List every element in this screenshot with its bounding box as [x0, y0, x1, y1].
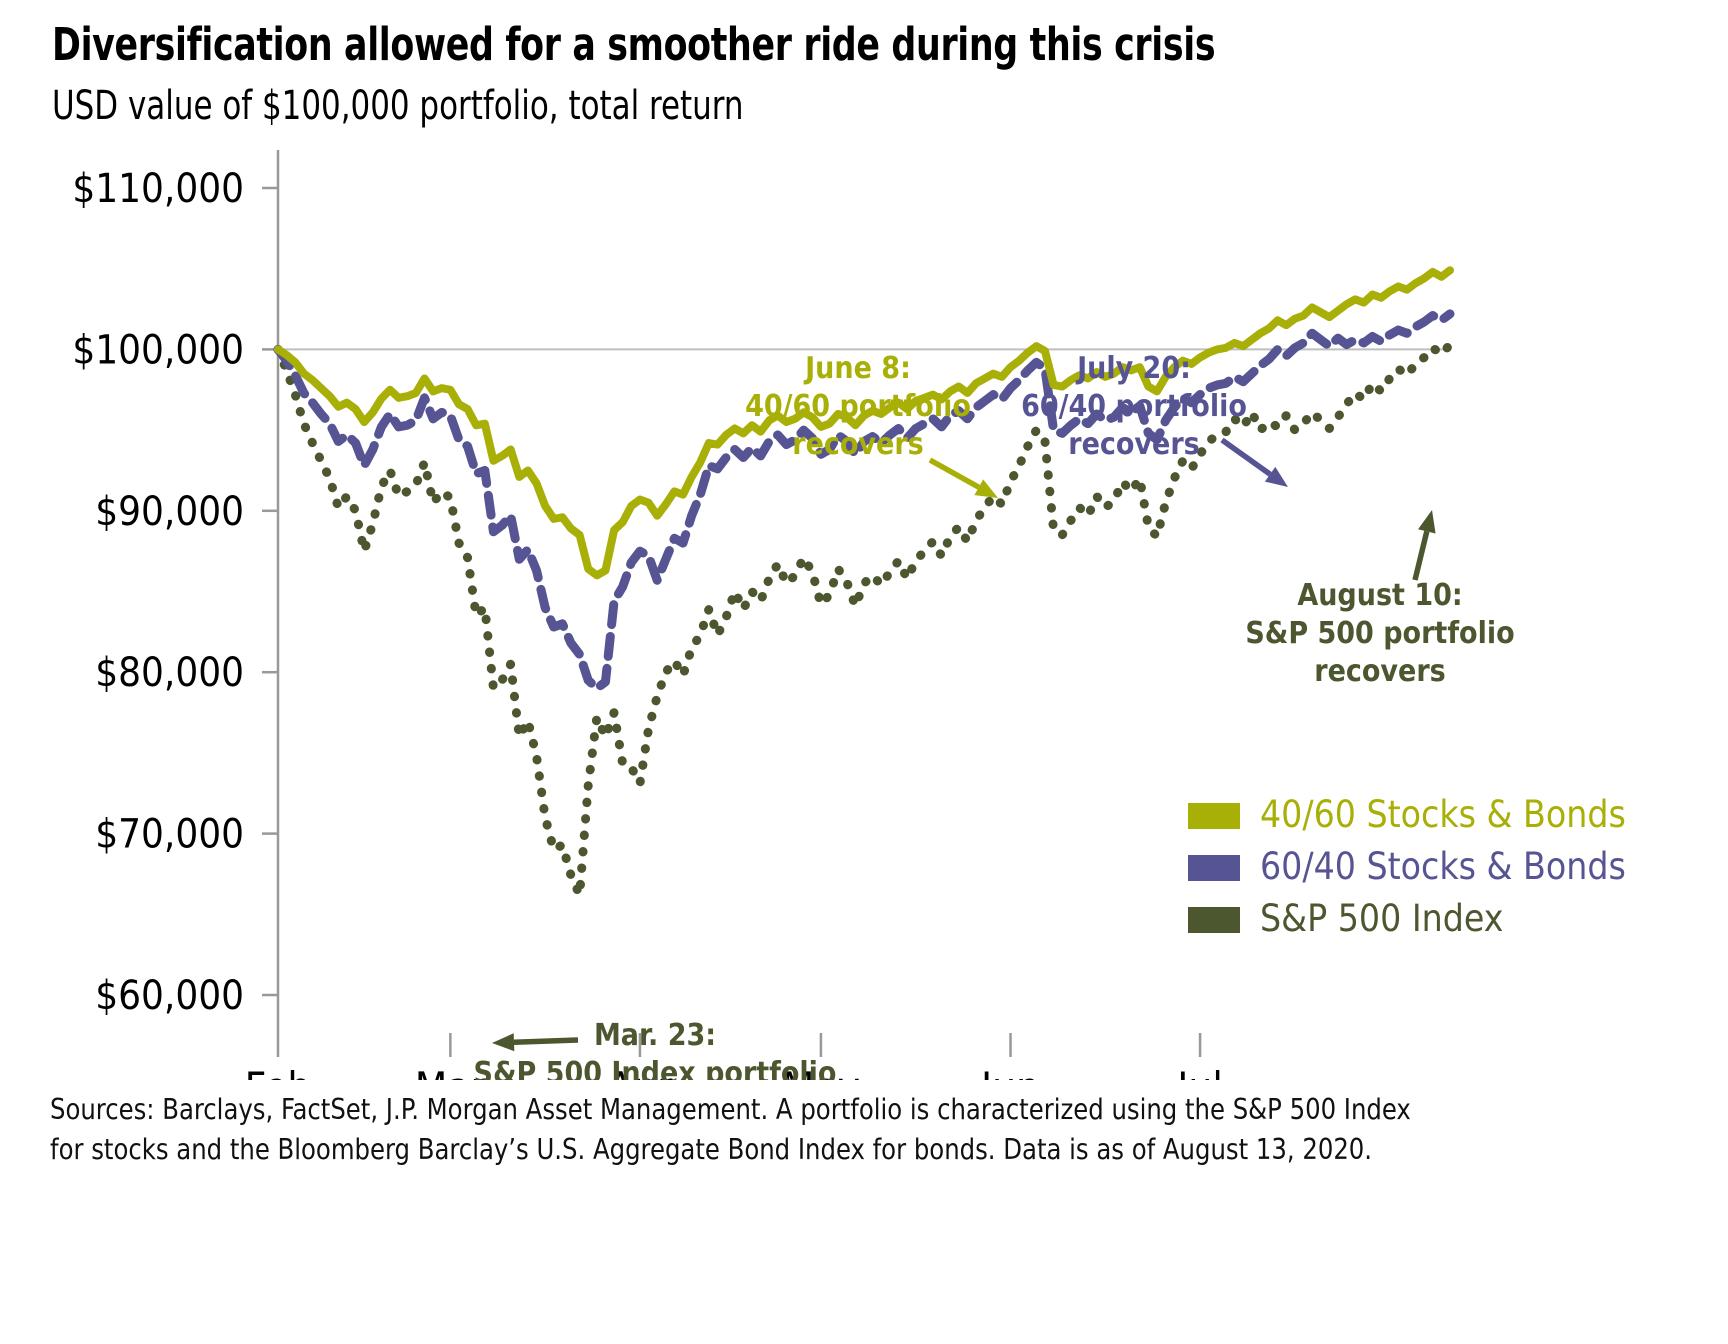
- y-axis-tick-label: $60,000: [95, 973, 244, 1019]
- chart-area: $110,000$100,000$90,000$80,000$70,000$60…: [0, 150, 1728, 1080]
- line-chart: $110,000$100,000$90,000$80,000$70,000$60…: [0, 150, 1728, 1080]
- annotation-arrow-line: [1222, 440, 1270, 474]
- y-axis-tick-label: $100,000: [72, 327, 244, 373]
- annotation-mar-23: Mar. 23:S&P 500 Index portfolioloses alm…: [474, 1018, 837, 1080]
- annotation-text-line: S&P 500 Index portfolio: [474, 1056, 837, 1080]
- legend-label: 40/60 Stocks & Bonds: [1260, 793, 1626, 836]
- annotation-arrow-line: [1415, 531, 1427, 580]
- x-axis-tick-label: Jun: [979, 1063, 1040, 1080]
- annotation-text-line: July 20:: [1075, 351, 1191, 386]
- annotation-arrow-head: [492, 1033, 514, 1051]
- legend-item-0[interactable]: 40/60 Stocks & Bonds: [1188, 793, 1626, 836]
- annotation-text-line: 40/60 portfolio: [745, 389, 971, 424]
- legend-swatch-icon: [1188, 907, 1240, 933]
- legend-swatch-icon: [1188, 855, 1240, 881]
- annotation-text-line: 60/40 portfolio: [1021, 389, 1247, 424]
- annotation-august-10: August 10:S&P 500 portfoliorecovers: [1245, 510, 1514, 689]
- page-title: Diversification allowed for a smoother r…: [52, 18, 1215, 71]
- y-axis-tick-label: $70,000: [95, 812, 244, 858]
- annotation-june-8: June 8:40/60 portfoliorecovers: [745, 351, 998, 498]
- annotation-text-line: Mar. 23:: [594, 1018, 716, 1053]
- annotation-text-line: recovers: [1314, 654, 1445, 689]
- page-subtitle: USD value of $100,000 portfolio, total r…: [52, 83, 744, 129]
- legend-item-2[interactable]: S&P 500 Index: [1188, 897, 1503, 940]
- source-note: Sources: Barclays, FactSet, J.P. Morgan …: [50, 1090, 1437, 1171]
- x-axis-tick-label: Feb: [245, 1063, 312, 1080]
- legend-label: S&P 500 Index: [1260, 897, 1503, 940]
- annotation-text-line: recovers: [1068, 427, 1199, 462]
- chart-page: Diversification allowed for a smoother r…: [0, 0, 1728, 1344]
- annotation-arrow-head: [1418, 510, 1435, 534]
- annotation-text-line: August 10:: [1297, 578, 1462, 613]
- annotation-text-line: S&P 500 portfolio: [1245, 616, 1514, 651]
- y-axis-tick-label: $110,000: [72, 166, 244, 212]
- legend-swatch-icon: [1188, 803, 1240, 829]
- y-axis-tick-label: $80,000: [95, 650, 244, 696]
- legend-label: 60/40 Stocks & Bonds: [1260, 845, 1626, 888]
- annotation-arrow-line: [514, 1040, 578, 1042]
- y-axis-tick-label: $90,000: [95, 489, 244, 535]
- annotation-arrow-line: [930, 460, 979, 487]
- x-axis-tick-label: Jul: [1175, 1063, 1223, 1080]
- annotation-text-line: recovers: [792, 427, 923, 462]
- legend-item-1[interactable]: 60/40 Stocks & Bonds: [1188, 845, 1626, 888]
- annotation-text-line: June 8:: [803, 351, 911, 386]
